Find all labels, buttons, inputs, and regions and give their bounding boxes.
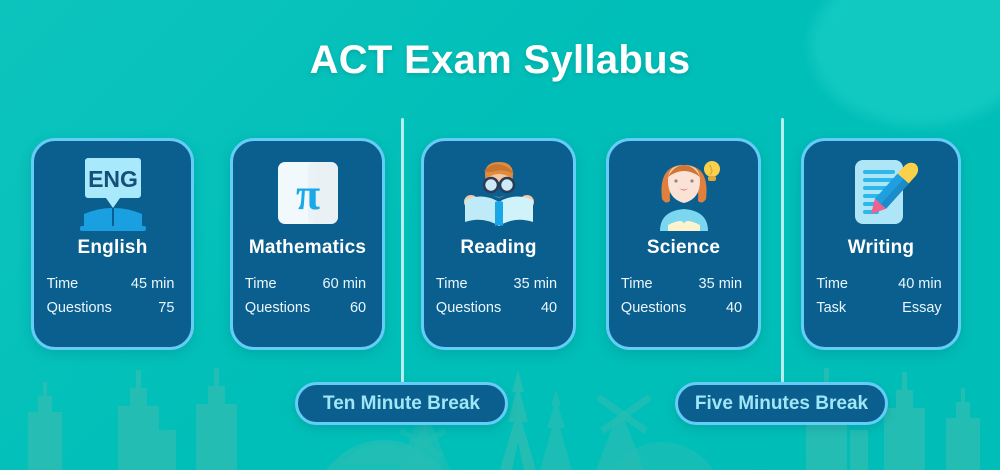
- stat-value: 35 min: [514, 273, 562, 297]
- syllabus-card-mathematics[interactable]: π Mathematics Time 60 min Questions 60: [230, 138, 385, 350]
- stat-label: Time: [816, 273, 848, 297]
- syllabus-card-science[interactable]: Science Time 35 min Questions 40: [606, 138, 761, 350]
- stat-value: 60 min: [323, 273, 371, 297]
- syllabus-card-reading[interactable]: Reading Time 35 min Questions 40: [421, 138, 576, 350]
- stat-label: Questions: [436, 297, 501, 321]
- stat-row: Questions 60: [245, 297, 370, 321]
- stat-label: Questions: [621, 297, 686, 321]
- document-pencil-icon: [804, 155, 958, 233]
- eng-speech-bubble-book-icon: ENG: [34, 155, 191, 233]
- girl-with-lightbulb-icon: [609, 155, 758, 233]
- card-title-science: Science: [609, 237, 758, 259]
- pi-symbol-icon: π: [233, 155, 382, 233]
- break-pill-label: Ten Minute Break: [323, 393, 480, 415]
- stat-label: Time: [47, 273, 79, 297]
- card-title-reading: Reading: [424, 237, 573, 259]
- card-stats-mathematics: Time 60 min Questions 60: [245, 273, 370, 321]
- stat-label: Task: [816, 297, 846, 321]
- stat-row: Time 40 min: [816, 273, 945, 297]
- stat-label: Time: [621, 273, 653, 297]
- card-stats-science: Time 35 min Questions 40: [621, 273, 746, 321]
- stat-value: 40 min: [898, 273, 946, 297]
- card-title-english: English: [34, 237, 191, 259]
- infographic-canvas: ACT Exam Syllabus ENG English Time 45 mi…: [0, 0, 1000, 470]
- page-title: ACT Exam Syllabus: [0, 38, 1000, 83]
- stat-value: 40: [726, 297, 746, 321]
- card-title-mathematics: Mathematics: [233, 237, 382, 259]
- card-stats-reading: Time 35 min Questions 40: [436, 273, 561, 321]
- stat-row: Time 45 min: [47, 273, 179, 297]
- stat-value: 45 min: [131, 273, 179, 297]
- stat-label: Questions: [245, 297, 310, 321]
- card-title-writing: Writing: [804, 237, 958, 259]
- stat-label: Time: [436, 273, 468, 297]
- break-pill-label: Five Minutes Break: [695, 393, 868, 415]
- syllabus-card-writing[interactable]: Writing Time 40 min Task Essay: [801, 138, 961, 350]
- syllabus-card-row: ENG English Time 45 min Questions 75: [0, 138, 1000, 353]
- stat-label: Questions: [47, 297, 112, 321]
- stat-label: Time: [245, 273, 277, 297]
- svg-text:π: π: [295, 170, 319, 219]
- stat-value: Essay: [902, 297, 946, 321]
- stat-value: 40: [541, 297, 561, 321]
- stat-row: Time 35 min: [436, 273, 561, 297]
- stat-value: 60: [350, 297, 370, 321]
- card-stats-english: Time 45 min Questions 75: [47, 273, 179, 321]
- stat-row: Task Essay: [816, 297, 945, 321]
- break-pill-ten-minute[interactable]: Ten Minute Break: [295, 382, 508, 425]
- stat-row: Time 35 min: [621, 273, 746, 297]
- card-stats-writing: Time 40 min Task Essay: [816, 273, 945, 321]
- stat-row: Questions 40: [621, 297, 746, 321]
- break-pill-five-minutes[interactable]: Five Minutes Break: [675, 382, 888, 425]
- stat-value: 75: [158, 297, 178, 321]
- stat-row: Questions 40: [436, 297, 561, 321]
- boy-reading-book-icon: [424, 155, 573, 233]
- syllabus-card-english[interactable]: ENG English Time 45 min Questions 75: [31, 138, 194, 350]
- stat-value: 35 min: [699, 273, 747, 297]
- stat-row: Time 60 min: [245, 273, 370, 297]
- stat-row: Questions 75: [47, 297, 179, 321]
- svg-text:ENG: ENG: [88, 166, 138, 192]
